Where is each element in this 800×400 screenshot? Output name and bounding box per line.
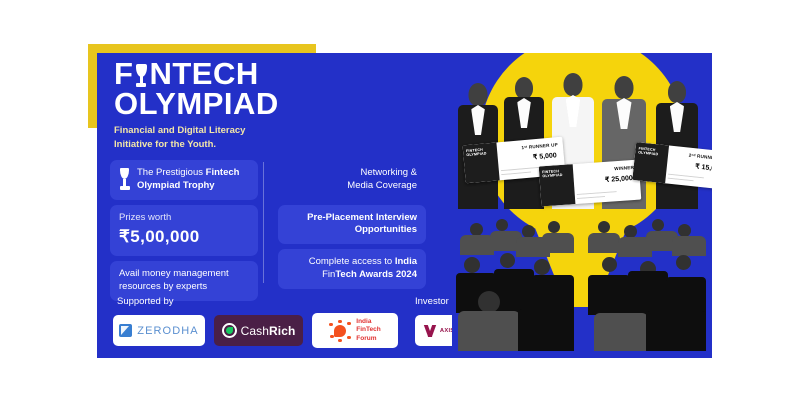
logo-india-fintech-forum[interactable]: India FinTech Forum [312, 313, 398, 348]
cheque-title: 2ⁿᵈ RUNNER UP [689, 153, 712, 162]
feature-trophy: The Prestigious Fintech Olympiad Trophy [110, 160, 258, 200]
audience-left-block [456, 213, 574, 351]
main-blue-panel: F NTECH OLYMPIAD Financial and Digital L… [97, 53, 712, 358]
headline-line1-part1: F [114, 59, 133, 89]
fintech-olympiad-banner: F NTECH OLYMPIAD Financial and Digital L… [0, 0, 800, 400]
india-fintech-forum-network-icon [329, 320, 351, 342]
cheque-amount: ₹ 25,000 [605, 174, 633, 184]
awards-text-bold-india: India [395, 256, 417, 267]
cheque-title: WINNER [614, 165, 634, 171]
supported-by-label: Supported by [117, 296, 174, 307]
subtitle: Financial and Digital Literacy Initiativ… [114, 124, 374, 152]
accent-bar-top [88, 44, 316, 53]
axis-arrow-icon [423, 325, 437, 337]
cheque-brand: FINTECH OLYMPIAD [466, 147, 487, 158]
headline-line-1: F NTECH [114, 59, 414, 89]
accent-bar-left [88, 44, 97, 128]
photo-collage: FINTECH OLYMPIAD 1ˢᵗ RUNNER UP ₹ 5,000 F… [452, 53, 712, 358]
feature-prizes: Prizes worth ₹5,00,000 [110, 205, 258, 257]
feature-column-left: The Prestigious Fintech Olympiad Trophy … [110, 160, 258, 306]
feature-networking: Networking & Media Coverage [278, 160, 426, 200]
feature-trophy-text-plain: The Prestigious [137, 167, 206, 178]
india-fintech-forum-wordmark: India FinTech Forum [356, 318, 380, 343]
cheque-amount: ₹ 5,000 [533, 151, 558, 161]
feature-pre-placement: Pre-Placement Interview Opportunities [278, 205, 426, 245]
cheque-title: 1ˢᵗ RUNNER UP [521, 142, 558, 150]
prize-label: Prizes worth [119, 212, 249, 225]
awards-text-bold-tech: Tech Awards 2024 [335, 269, 417, 280]
cashrich-wordmark: CashRich [241, 324, 296, 338]
logo-cashrich[interactable]: CashRich [214, 315, 303, 346]
headline-line-2: OLYMPIAD [114, 89, 414, 119]
headline-block: F NTECH OLYMPIAD [114, 59, 414, 120]
ceremony-person [656, 73, 698, 209]
awards-text-plain-fin: Fin [322, 269, 335, 280]
zerodha-kite-icon [119, 324, 132, 337]
cheque-winner: FINTECH OLYMPIAD WINNER ₹ 25,000 [539, 160, 642, 207]
audience-right-block [588, 213, 706, 351]
cheque-amount: ₹ 15,000 [695, 162, 712, 173]
trophy-letter-icon [136, 62, 147, 89]
prize-amount: ₹5,00,000 [119, 226, 249, 249]
trophy-icon [119, 168, 130, 192]
award-ceremony-photo: FINTECH OLYMPIAD 1ˢᵗ RUNNER UP ₹ 5,000 F… [452, 59, 712, 209]
cashrich-spiral-icon [222, 323, 237, 338]
feature-india-fintech-awards: Complete access to India FinTech Awards … [278, 249, 426, 289]
feature-column-right: Networking & Media Coverage Pre-Placemen… [278, 160, 426, 294]
cashrich-text-bold: Rich [269, 324, 295, 338]
headline-line1-part2: NTECH [149, 59, 258, 89]
feature-column-divider [263, 162, 264, 283]
feature-grid: The Prestigious Fintech Olympiad Trophy … [110, 160, 426, 285]
zerodha-wordmark: ZERODHA [137, 325, 198, 337]
audience-photo [456, 213, 706, 351]
awards-text-plain: Complete access to [309, 256, 395, 267]
cashrich-text-light: Cash [241, 324, 269, 338]
feature-trophy-text: The Prestigious Fintech Olympiad Trophy [137, 167, 239, 193]
cheque-brand: FINTECH OLYMPIAD [542, 169, 563, 179]
logo-zerodha[interactable]: ZERODHA [113, 315, 205, 346]
